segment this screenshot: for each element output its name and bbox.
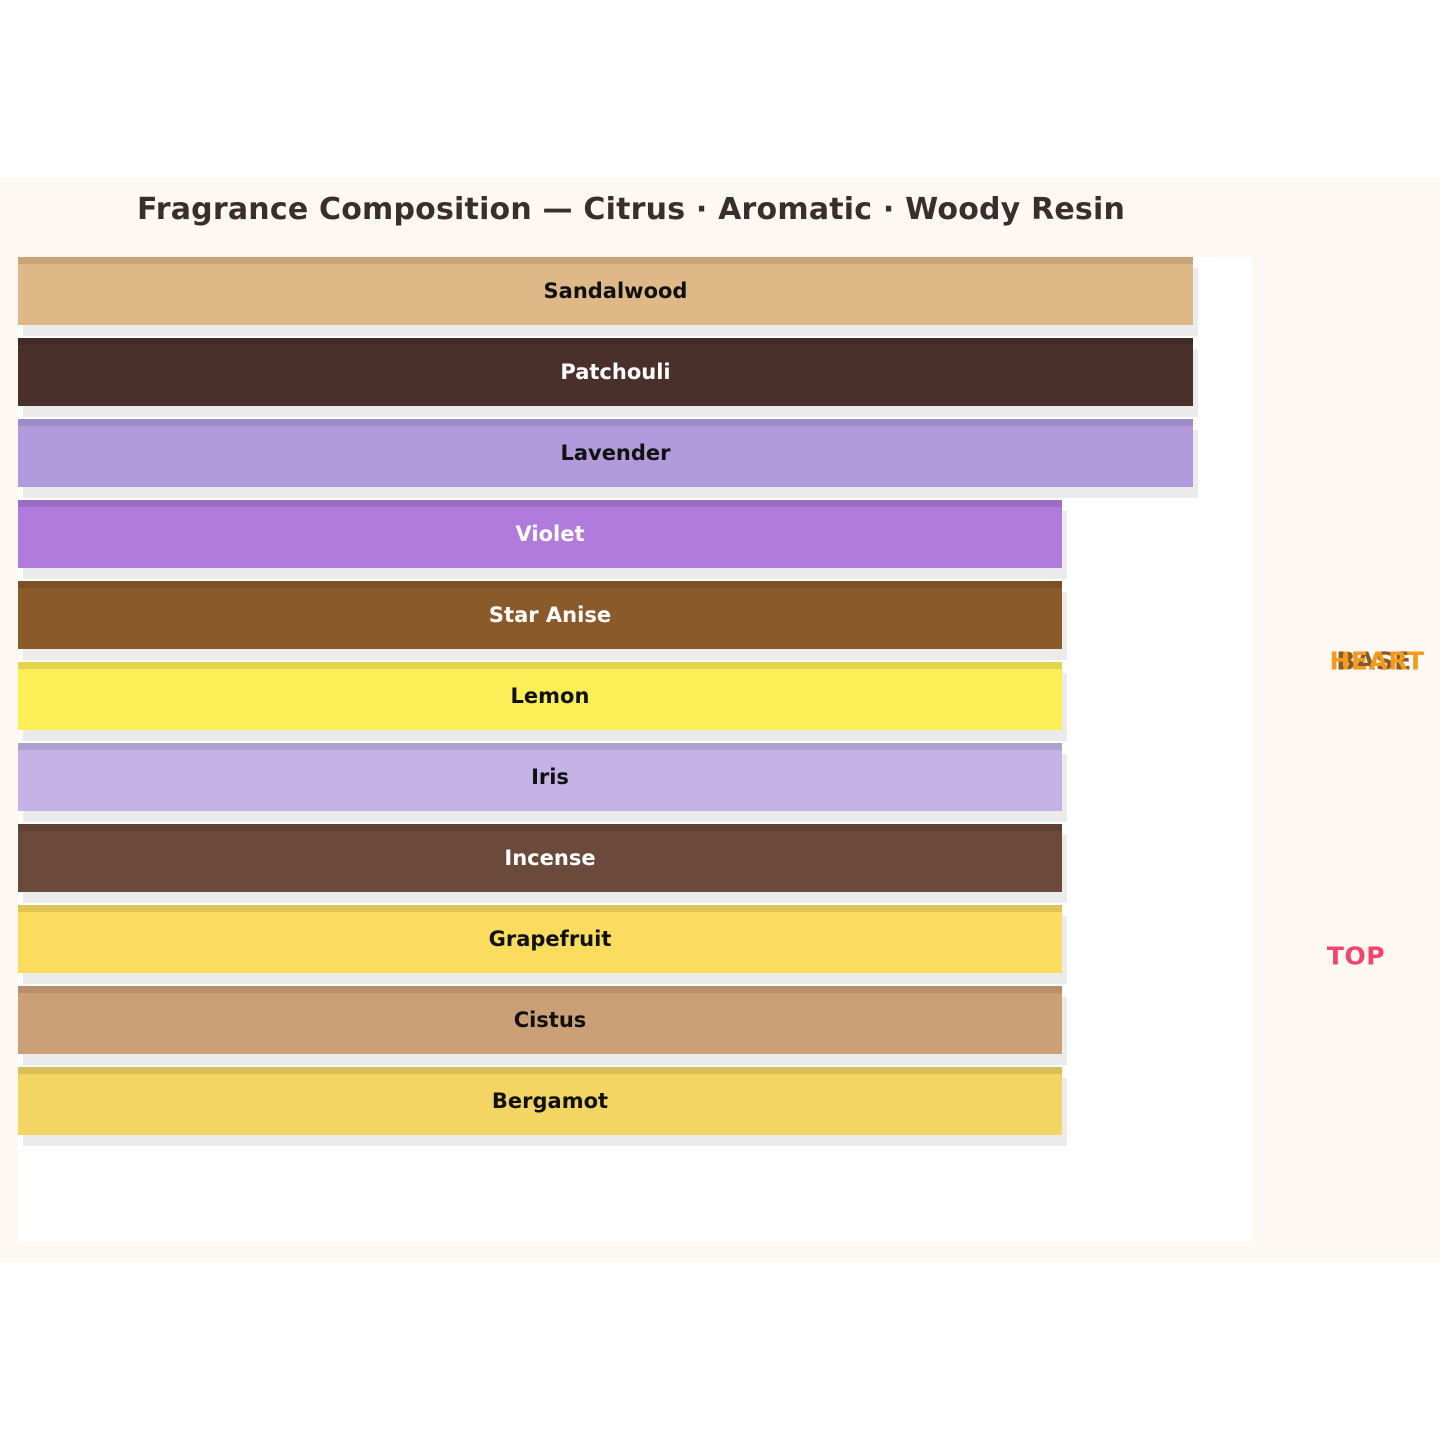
bar-row: Grapefruit — [18, 905, 1082, 985]
bar-label: Patchouli — [18, 338, 1213, 406]
bar-row: Sandalwood — [18, 257, 1213, 337]
bar-label: Grapefruit — [18, 905, 1082, 973]
bar-label: Sandalwood — [18, 257, 1213, 325]
bar-row: Patchouli — [18, 338, 1213, 418]
bar-row: Incense — [18, 824, 1082, 904]
bar-label: Bergamot — [18, 1067, 1082, 1135]
bar-row: Cistus — [18, 986, 1082, 1066]
stage-label-top: TOP — [1327, 942, 1385, 971]
bar-row: Star Anise — [18, 581, 1082, 661]
plot-area: SandalwoodPatchouliLavenderVioletStar An… — [18, 257, 1252, 1242]
bar-label: Lavender — [18, 419, 1213, 487]
bar-label: Violet — [18, 500, 1082, 568]
bar-row: Iris — [18, 743, 1082, 823]
bar-row: Lavender — [18, 419, 1213, 499]
chart-title: Fragrance Composition — Citrus · Aromati… — [0, 192, 1262, 227]
bar-row: Lemon — [18, 662, 1082, 742]
bar-row: Violet — [18, 500, 1082, 580]
bar-label: Cistus — [18, 986, 1082, 1054]
bar-label: Star Anise — [18, 581, 1082, 649]
bar-label: Iris — [18, 743, 1082, 811]
bar-label: Incense — [18, 824, 1082, 892]
bar-label: Lemon — [18, 662, 1082, 730]
chart-figure: Fragrance Composition — Citrus · Aromati… — [0, 178, 1440, 1262]
stage-label-heart: HEART — [1329, 647, 1424, 676]
bar-row: Bergamot — [18, 1067, 1082, 1147]
